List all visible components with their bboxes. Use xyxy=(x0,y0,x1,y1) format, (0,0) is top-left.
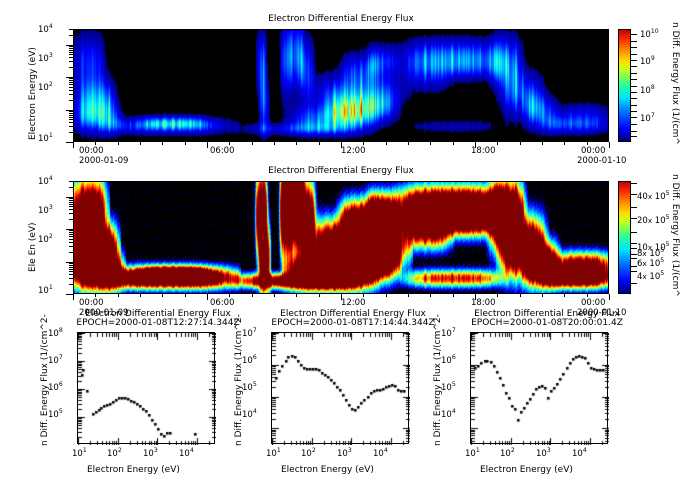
spectrum-2-xtick-1: 101 xyxy=(266,449,281,459)
axis-tick xyxy=(229,294,230,297)
spectrum-1-ytick-7: 107 xyxy=(48,356,63,366)
axis-tick xyxy=(69,119,73,120)
axis-tick xyxy=(69,236,73,237)
axis-tick xyxy=(66,262,73,263)
spectrogram-middle-xtick-1: 06:00 xyxy=(210,298,235,308)
axis-tick xyxy=(69,232,73,233)
axis-tick xyxy=(520,294,521,297)
axis-tick xyxy=(319,142,320,145)
axis-tick xyxy=(475,294,476,300)
axis-tick xyxy=(69,213,73,214)
spectrogram-top-ytick-2: 102 xyxy=(38,83,53,93)
axis-tick xyxy=(69,87,73,88)
axis-tick xyxy=(69,35,73,36)
axis-tick xyxy=(386,142,387,145)
spectrogram-middle-cbar-tick-40: 40x 105 xyxy=(637,192,670,202)
spectrogram-top-colorbar[interactable] xyxy=(618,29,631,142)
axis-tick xyxy=(341,142,342,148)
colorbar-tick xyxy=(631,266,637,267)
axis-tick xyxy=(408,142,409,145)
colorbar-tick xyxy=(631,243,637,244)
spectrogram-top-colorbar-gradient xyxy=(619,30,630,141)
colorbar-tick xyxy=(631,248,637,249)
colorbar-tick xyxy=(631,117,637,118)
axis-tick xyxy=(69,198,73,199)
axis-tick xyxy=(453,142,454,145)
spectrum-3-subtitle: EPOCH=2000-01-08T20:00:01.4Z xyxy=(452,318,642,328)
spectrogram-middle-xtick-4: 00:00 xyxy=(581,298,606,308)
axis-tick xyxy=(69,200,73,201)
colorbar-tick xyxy=(631,258,637,259)
colorbar-tick xyxy=(631,283,637,284)
axis-tick xyxy=(69,100,73,101)
spectrogram-top-xtick-1: 06:00 xyxy=(210,146,235,156)
axis-tick xyxy=(69,122,73,123)
axis-tick xyxy=(520,142,521,145)
axis-tick xyxy=(69,246,73,247)
spectrum-2-ytick-5: 105 xyxy=(242,383,257,393)
axis-tick xyxy=(542,294,543,297)
colorbar-tick xyxy=(631,136,637,137)
axis-tick xyxy=(69,234,73,235)
axis-tick xyxy=(408,294,409,297)
axis-tick xyxy=(69,57,73,58)
spectrum-2-ytick-4: 104 xyxy=(242,410,257,420)
axis-tick xyxy=(69,61,73,62)
spectrum-2-ylabel: n Diff. Energy Flux (1/(cm^2- xyxy=(234,314,244,446)
spectrum-3-ytick-4: 104 xyxy=(441,410,456,420)
spectrum-3-xtick-4: 104 xyxy=(572,449,587,459)
spectrogram-top-title: Electron Differential Energy Flux xyxy=(73,14,609,24)
axis-tick xyxy=(69,274,73,275)
axis-tick xyxy=(69,113,73,114)
axis-tick xyxy=(69,219,73,220)
spectrum-2-xtick-4: 104 xyxy=(373,449,388,459)
axis-tick xyxy=(69,252,73,253)
spectrogram-top-ytick-4: 104 xyxy=(38,25,53,35)
spectrogram-top-xtick-0-date: 2000-01-09 xyxy=(79,156,128,166)
axis-tick xyxy=(185,142,186,145)
colorbar-tick xyxy=(631,92,637,93)
axis-tick xyxy=(69,209,73,210)
colorbar-tick xyxy=(631,66,637,67)
axis-tick xyxy=(118,294,119,297)
axis-tick xyxy=(69,67,73,68)
axis-tick xyxy=(542,142,543,145)
spectrum-1-canvas xyxy=(78,333,216,445)
axis-tick xyxy=(497,142,498,145)
spectrogram-top-xtick-4-date: 2000-01-10 xyxy=(577,156,626,166)
spectrum-3-xtick-2: 102 xyxy=(500,449,515,459)
axis-tick xyxy=(140,294,141,297)
axis-tick xyxy=(587,294,588,297)
colorbar-tick xyxy=(631,73,637,74)
axis-tick xyxy=(69,132,73,133)
spectrum-1-ytick-6: 106 xyxy=(48,383,63,393)
axis-tick xyxy=(69,84,73,85)
spectrum-1-ytick-8: 108 xyxy=(48,329,63,339)
colorbar-tick xyxy=(631,47,637,48)
axis-tick xyxy=(69,263,73,264)
spectrogram-middle-colorbar-gradient xyxy=(619,182,630,293)
spectrum-3-xtick-1: 101 xyxy=(465,449,480,459)
spectrum-3-canvas xyxy=(471,333,609,445)
axis-tick xyxy=(497,294,498,297)
axis-tick xyxy=(386,294,387,297)
colorbar-tick xyxy=(631,254,637,255)
colorbar-tick xyxy=(631,232,637,233)
colorbar-tick xyxy=(631,111,637,112)
colorbar-tick xyxy=(631,207,637,208)
colorbar-tick xyxy=(631,41,637,42)
spectrogram-top-xtick-0: 00:00 xyxy=(79,146,104,156)
axis-tick xyxy=(69,265,73,266)
axis-tick xyxy=(66,77,73,78)
axis-tick xyxy=(453,294,454,297)
axis-tick xyxy=(66,45,73,46)
axis-tick xyxy=(69,111,73,112)
axis-tick xyxy=(363,142,364,145)
axis-tick xyxy=(66,197,73,198)
spectrum-2-subtitle: EPOCH=2000-01-08T17:14:44.344Z xyxy=(258,318,448,328)
colorbar-tick xyxy=(631,131,637,132)
spectrogram-top-cbar-tick-7: 107 xyxy=(640,114,655,124)
axis-tick xyxy=(564,142,565,145)
spectrogram-middle-xtick-0: 00:00 xyxy=(79,298,104,308)
spectrum-3-ytick-7: 107 xyxy=(441,329,456,339)
spectrogram-middle-ytick-4: 104 xyxy=(38,177,53,187)
spectrogram-middle-cbar-tick-4: 4x 105 xyxy=(637,272,664,282)
spectrum-2-ytick-7: 107 xyxy=(242,329,257,339)
spectrogram-middle-canvas xyxy=(74,182,609,294)
axis-tick xyxy=(69,230,73,231)
axis-tick xyxy=(229,142,230,145)
spectrogram-top-xtick-4: 00:00 xyxy=(581,146,606,156)
colorbar-tick xyxy=(631,98,637,99)
axis-tick xyxy=(252,142,253,145)
spectrum-1-xtick-1: 101 xyxy=(72,449,87,459)
spectrum-3-xtick-3: 103 xyxy=(536,449,551,459)
spectrum-2-xtick-3: 103 xyxy=(337,449,352,459)
spectrum-3-ytick-5: 105 xyxy=(441,383,456,393)
axis-tick xyxy=(69,80,73,81)
colorbar-tick xyxy=(631,60,637,61)
axis-tick xyxy=(69,202,73,203)
axis-tick xyxy=(69,78,73,79)
spectrum-3-ytick-6: 106 xyxy=(441,356,456,366)
axis-tick xyxy=(69,50,73,51)
axis-tick xyxy=(69,52,73,53)
axis-tick xyxy=(430,294,431,297)
colorbar-tick xyxy=(631,54,637,55)
spectrum-3-ylabel: n Diff. Energy Flux (1/(cm^2- xyxy=(433,314,443,446)
axis-tick xyxy=(69,29,73,30)
spectrum-1-xtick-3: 103 xyxy=(143,449,158,459)
axis-tick xyxy=(69,269,73,270)
axis-tick xyxy=(73,142,74,148)
axis-tick xyxy=(140,142,141,145)
spectrogram-top-xtick-2: 12:00 xyxy=(341,146,366,156)
axis-tick xyxy=(73,294,74,300)
axis-tick xyxy=(66,294,73,295)
axis-tick xyxy=(69,267,73,268)
axis-tick xyxy=(430,142,431,145)
axis-tick xyxy=(66,142,73,143)
axis-tick xyxy=(69,54,73,55)
axis-tick xyxy=(69,46,73,47)
axis-tick xyxy=(609,294,610,300)
axis-tick xyxy=(69,126,73,127)
spectrum-2-xlabel: Electron Energy (eV) xyxy=(281,465,374,475)
axis-tick xyxy=(69,187,73,188)
spectrogram-middle-ytick-3: 103 xyxy=(38,206,53,216)
spectrogram-middle-xtick-2: 12:00 xyxy=(341,298,366,308)
spectrum-3-plot[interactable] xyxy=(470,332,608,444)
axis-tick xyxy=(296,142,297,145)
colorbar-tick xyxy=(631,79,637,80)
colorbar-tick xyxy=(631,271,637,272)
axis-tick xyxy=(69,284,73,285)
spectrum-3-xlabel: Electron Energy (eV) xyxy=(480,465,573,475)
axis-tick xyxy=(207,142,208,148)
spectrum-2-plot[interactable] xyxy=(271,332,409,444)
spectrum-1-ytick-5: 105 xyxy=(48,410,63,420)
spectrogram-middle-colorbar[interactable] xyxy=(618,181,631,294)
spectrogram-top-cbar-tick-9: 109 xyxy=(640,57,655,67)
axis-tick xyxy=(95,294,96,297)
axis-tick xyxy=(363,294,364,297)
axis-tick xyxy=(564,294,565,297)
spectrum-1-xtick-4: 104 xyxy=(179,449,194,459)
axis-tick xyxy=(475,142,476,148)
spectrum-2-canvas xyxy=(272,333,410,445)
spectrum-1-xtick-2: 102 xyxy=(107,449,122,459)
spectrogram-middle-ytick-2: 102 xyxy=(38,235,53,245)
axis-tick xyxy=(319,294,320,297)
colorbar-tick xyxy=(631,183,637,184)
spectrogram-top-ylabel: Electron Energy (eV) xyxy=(28,47,38,140)
spectrogram-middle-plot[interactable] xyxy=(73,181,609,294)
spectrogram-middle-title: Electron Differential Energy Flux xyxy=(73,166,609,176)
axis-tick xyxy=(296,294,297,297)
axis-tick xyxy=(587,142,588,145)
axis-tick xyxy=(69,271,73,272)
axis-tick xyxy=(69,90,73,91)
colorbar-tick xyxy=(631,194,637,195)
spectrogram-top-cbar-tick-8: 108 xyxy=(640,86,655,96)
axis-tick xyxy=(69,278,73,279)
spectrum-2-ytick-6: 106 xyxy=(242,356,257,366)
axis-tick xyxy=(69,117,73,118)
axis-tick xyxy=(95,142,96,145)
axis-tick xyxy=(185,294,186,297)
spectrogram-top-cbar-tick-10: 1010 xyxy=(640,30,659,40)
spectrogram-top-plot[interactable] xyxy=(73,29,609,142)
axis-tick xyxy=(69,242,73,243)
spectrogram-top-ytick-1: 101 xyxy=(38,134,53,144)
axis-tick xyxy=(69,204,73,205)
axis-tick xyxy=(274,142,275,145)
spectrum-1-plot[interactable] xyxy=(77,332,215,444)
colorbar-tick xyxy=(631,124,637,125)
spectrum-1-ylabel: n Diff. Energy Flux (1/(cm^2- xyxy=(40,314,50,446)
axis-tick xyxy=(252,294,253,297)
axis-tick xyxy=(207,294,208,300)
colorbar-tick xyxy=(631,218,637,219)
axis-tick xyxy=(69,48,73,49)
spectrogram-top-cbar-label: n Diff. Energy Flux (1/(cm^ xyxy=(670,22,680,145)
axis-tick xyxy=(69,115,73,116)
colorbar-tick xyxy=(631,105,637,106)
spectrogram-middle-ylabel: Ele En (eV) xyxy=(28,222,38,272)
axis-tick xyxy=(69,94,73,95)
axis-tick xyxy=(66,110,73,111)
spectrogram-middle-cbar-tick-6: 6x 105 xyxy=(637,259,664,269)
axis-tick xyxy=(118,142,119,145)
spectrum-1-subtitle: EPOCH=2000-01-08T12:27:14.344Z xyxy=(63,318,253,328)
colorbar-tick xyxy=(631,86,637,87)
spectrum-1-xlabel: Electron Energy (eV) xyxy=(87,465,180,475)
axis-tick xyxy=(69,82,73,83)
axis-tick xyxy=(66,229,73,230)
axis-tick xyxy=(162,294,163,297)
spectrogram-middle-cbar-label: n Diff. Energy Flux (1/(cm^ xyxy=(670,174,680,297)
spectrogram-top-canvas xyxy=(74,30,609,142)
spectrogram-middle-ytick-1: 101 xyxy=(38,286,53,296)
spectrogram-middle-cbar-tick-20: 20x 105 xyxy=(637,216,670,226)
axis-tick xyxy=(69,239,73,240)
axis-tick xyxy=(341,294,342,300)
axis-tick xyxy=(274,294,275,297)
axis-tick xyxy=(69,181,73,182)
axis-tick xyxy=(609,142,610,148)
spectrum-2-xtick-2: 102 xyxy=(301,449,316,459)
colorbar-tick xyxy=(631,34,637,35)
axis-tick xyxy=(162,142,163,145)
spectrogram-top-ytick-3: 103 xyxy=(38,54,53,64)
axis-tick xyxy=(69,206,73,207)
